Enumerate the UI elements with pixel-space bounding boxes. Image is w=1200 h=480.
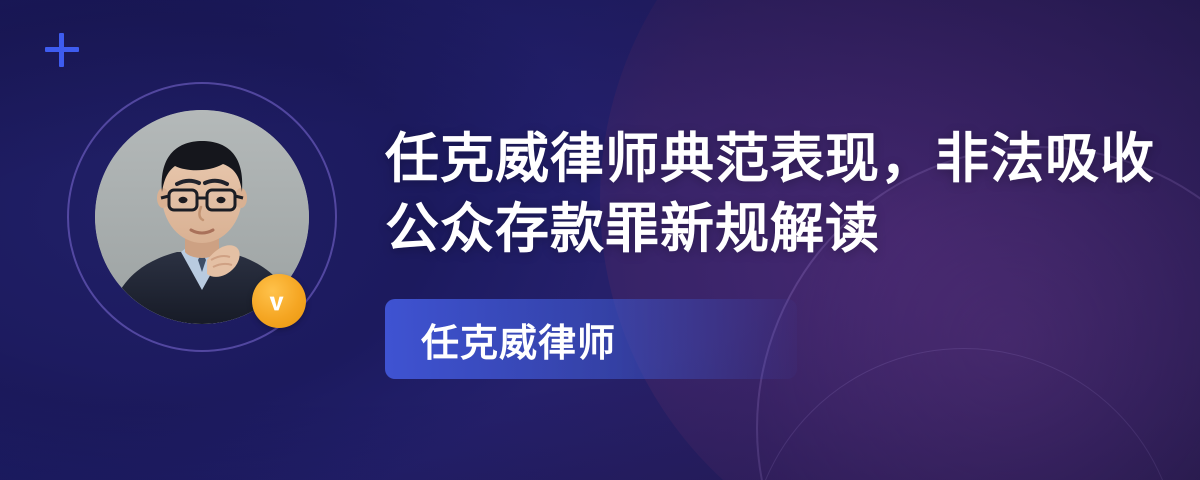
page-title: 任克威律师典范表现，非法吸收公众存款罪新规解读 [385,124,1175,264]
verified-check-icon [252,274,306,328]
author-name: 任克威律师 [421,312,616,367]
promo-banner: 任克威律师典范表现，非法吸收公众存款罪新规解读 任克威律师 [0,0,1200,480]
author-chip: 任克威律师 [385,299,797,379]
avatar [67,82,337,352]
plus-icon [45,33,79,67]
